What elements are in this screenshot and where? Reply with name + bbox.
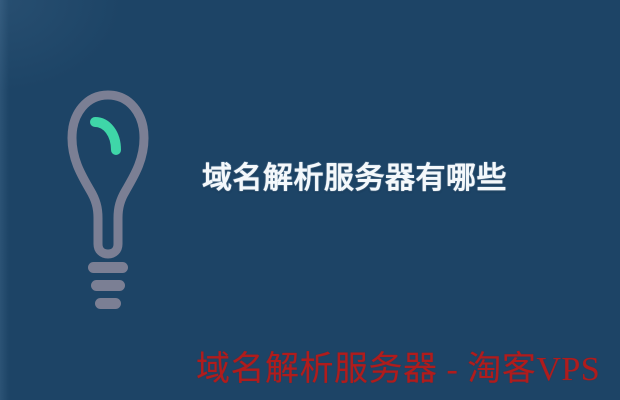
source-caption: 域名解析服务器 - 淘客VPS	[196, 348, 600, 392]
page-title: 域名解析服务器有哪些	[202, 158, 507, 200]
lightbulb-icon	[58, 86, 158, 314]
bulb-outline-shape	[72, 95, 144, 254]
bulb-base-bar-1	[88, 262, 128, 273]
left-edge-sheen	[0, 0, 9, 400]
bulb-highlight-arc	[95, 122, 116, 150]
corner-sheen	[0, 0, 120, 90]
bulb-base-bar-3	[95, 298, 121, 309]
bulb-base-bar-2	[91, 280, 125, 291]
cover-image-canvas: 域名解析服务器有哪些 域名解析服务器 - 淘客VPS	[0, 0, 620, 400]
